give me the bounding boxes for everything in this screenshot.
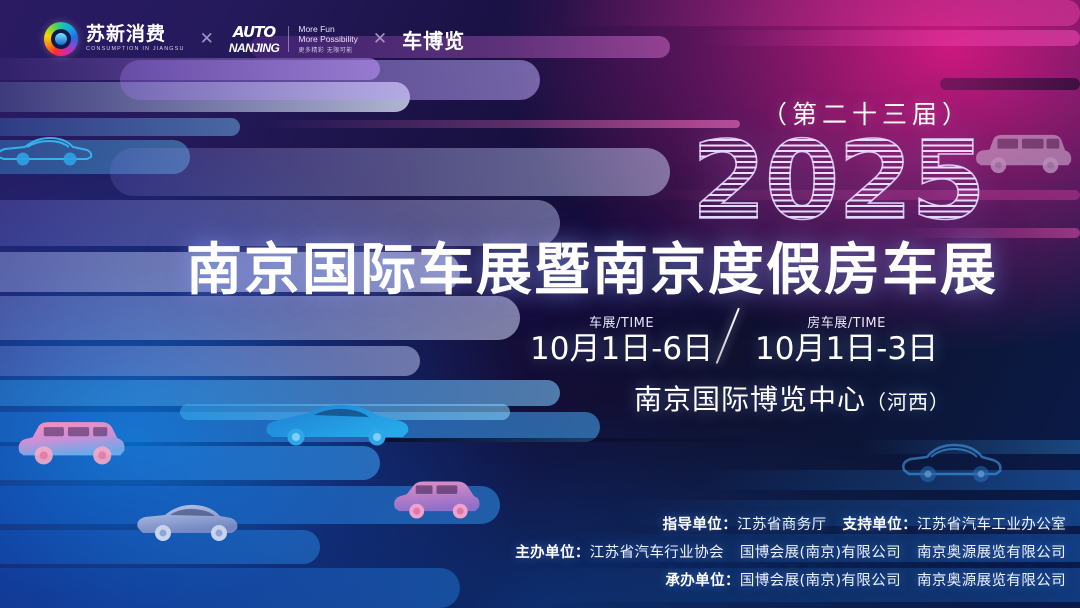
venue-name: 南京国际博览中心	[634, 383, 866, 416]
streak	[700, 470, 1080, 490]
suxin-logo-cn: 苏新消费	[86, 25, 185, 44]
car-coupe-mid-left	[262, 398, 412, 454]
credit-key-guidance: 指导单位：	[663, 517, 738, 533]
streak	[940, 78, 1080, 90]
car-sedan-top-left	[0, 128, 94, 170]
credit-key-support: 支持单位：	[843, 517, 918, 533]
sponsor-logo-bar: 苏新消费 CONSUMPTION IN JIANGSU ✕ AUTO NANJI…	[44, 22, 465, 56]
auto-tagline-en-2: More Possibility	[298, 34, 358, 45]
logo-che-bo-lan[interactable]: 车博览	[402, 25, 465, 54]
auto-tagline-en-1: More Fun	[298, 24, 358, 35]
streak	[0, 346, 420, 376]
credit-val-host-3: 南京奥源展览有限公司	[917, 545, 1066, 561]
rv-show-date-value: 10月1日-3日	[755, 334, 938, 365]
date-group-auto-show: 车展/TIME 10月1日-6日	[530, 312, 713, 365]
venue-district: （河西）	[866, 390, 950, 414]
venue-line: 南京国际博览中心（河西）	[634, 378, 950, 418]
logo-divider	[288, 26, 289, 52]
streak	[0, 568, 460, 608]
streak	[260, 120, 740, 128]
organizer-credits: 指导单位：江苏省商务厅支持单位：江苏省汽车工业办公室 主办单位：江苏省汽车行业协…	[515, 506, 1066, 590]
streak	[120, 60, 540, 100]
car-compact-bottom-left	[132, 496, 242, 544]
credit-val-guidance: 江苏省商务厅	[737, 517, 826, 533]
credit-val-host-2: 国博会展(南京)有限公司	[740, 545, 901, 561]
credit-val-organizer-2: 南京奥源展览有限公司	[917, 573, 1066, 589]
streak	[700, 30, 1080, 46]
poster-canvas: 苏新消费 CONSUMPTION IN JIANGSU ✕ AUTO NANJI…	[0, 0, 1080, 608]
streak	[110, 148, 670, 196]
auto-show-date-value: 10月1日-6日	[530, 334, 713, 365]
credit-key-organizer: 承办单位：	[665, 573, 740, 589]
car-suv-left	[12, 414, 134, 472]
car-beetle-right	[896, 438, 1008, 488]
logo-auto-nanjing[interactable]: AUTO NANJING More Fun More Possibility 更…	[229, 24, 358, 55]
credit-val-support: 江苏省汽车工业办公室	[917, 517, 1066, 533]
logo-separator-icon: ✕	[198, 29, 216, 49]
credit-line-guidance: 指导单位：江苏省商务厅支持单位：江苏省汽车工业办公室	[515, 513, 1066, 534]
year-headline: 2025	[691, 128, 984, 236]
credit-val-host-1: 江苏省汽车行业协会	[590, 545, 724, 561]
auto-logo-line1: AUTO	[233, 25, 275, 40]
credit-key-host: 主办单位：	[515, 545, 590, 561]
auto-tagline-cn: 更多精彩 无限可能	[298, 47, 358, 55]
car-hatchback-bottom	[390, 476, 484, 524]
auto-logo-line2: NANJING	[229, 42, 280, 54]
suxin-swirl-icon	[44, 22, 78, 56]
date-group-rv-show: 房车展/TIME 10月1日-3日	[755, 312, 938, 365]
streak	[380, 438, 800, 442]
rv-show-date-label: 房车展/TIME	[755, 312, 938, 331]
date-divider-slash	[716, 308, 740, 364]
suxin-logo-en: CONSUMPTION IN JIANGSU	[86, 47, 185, 52]
date-block: 车展/TIME 10月1日-6日 房车展/TIME 10月1日-3日	[520, 312, 950, 368]
streak	[560, 0, 1080, 26]
logo-su-xin-xiao-fei[interactable]: 苏新消费 CONSUMPTION IN JIANGSU	[44, 22, 185, 56]
credit-line-host: 主办单位：江苏省汽车行业协会国博会展(南京)有限公司南京奥源展览有限公司	[515, 541, 1066, 562]
page-title: 南京国际车展暨南京度假房车展	[186, 243, 998, 299]
logo-separator-icon-2: ✕	[371, 29, 389, 49]
credit-val-organizer-1: 国博会展(南京)有限公司	[740, 573, 901, 589]
auto-show-date-label: 车展/TIME	[530, 312, 713, 331]
credit-line-organizer: 承办单位：国博会展(南京)有限公司南京奥源展览有限公司	[515, 569, 1066, 590]
